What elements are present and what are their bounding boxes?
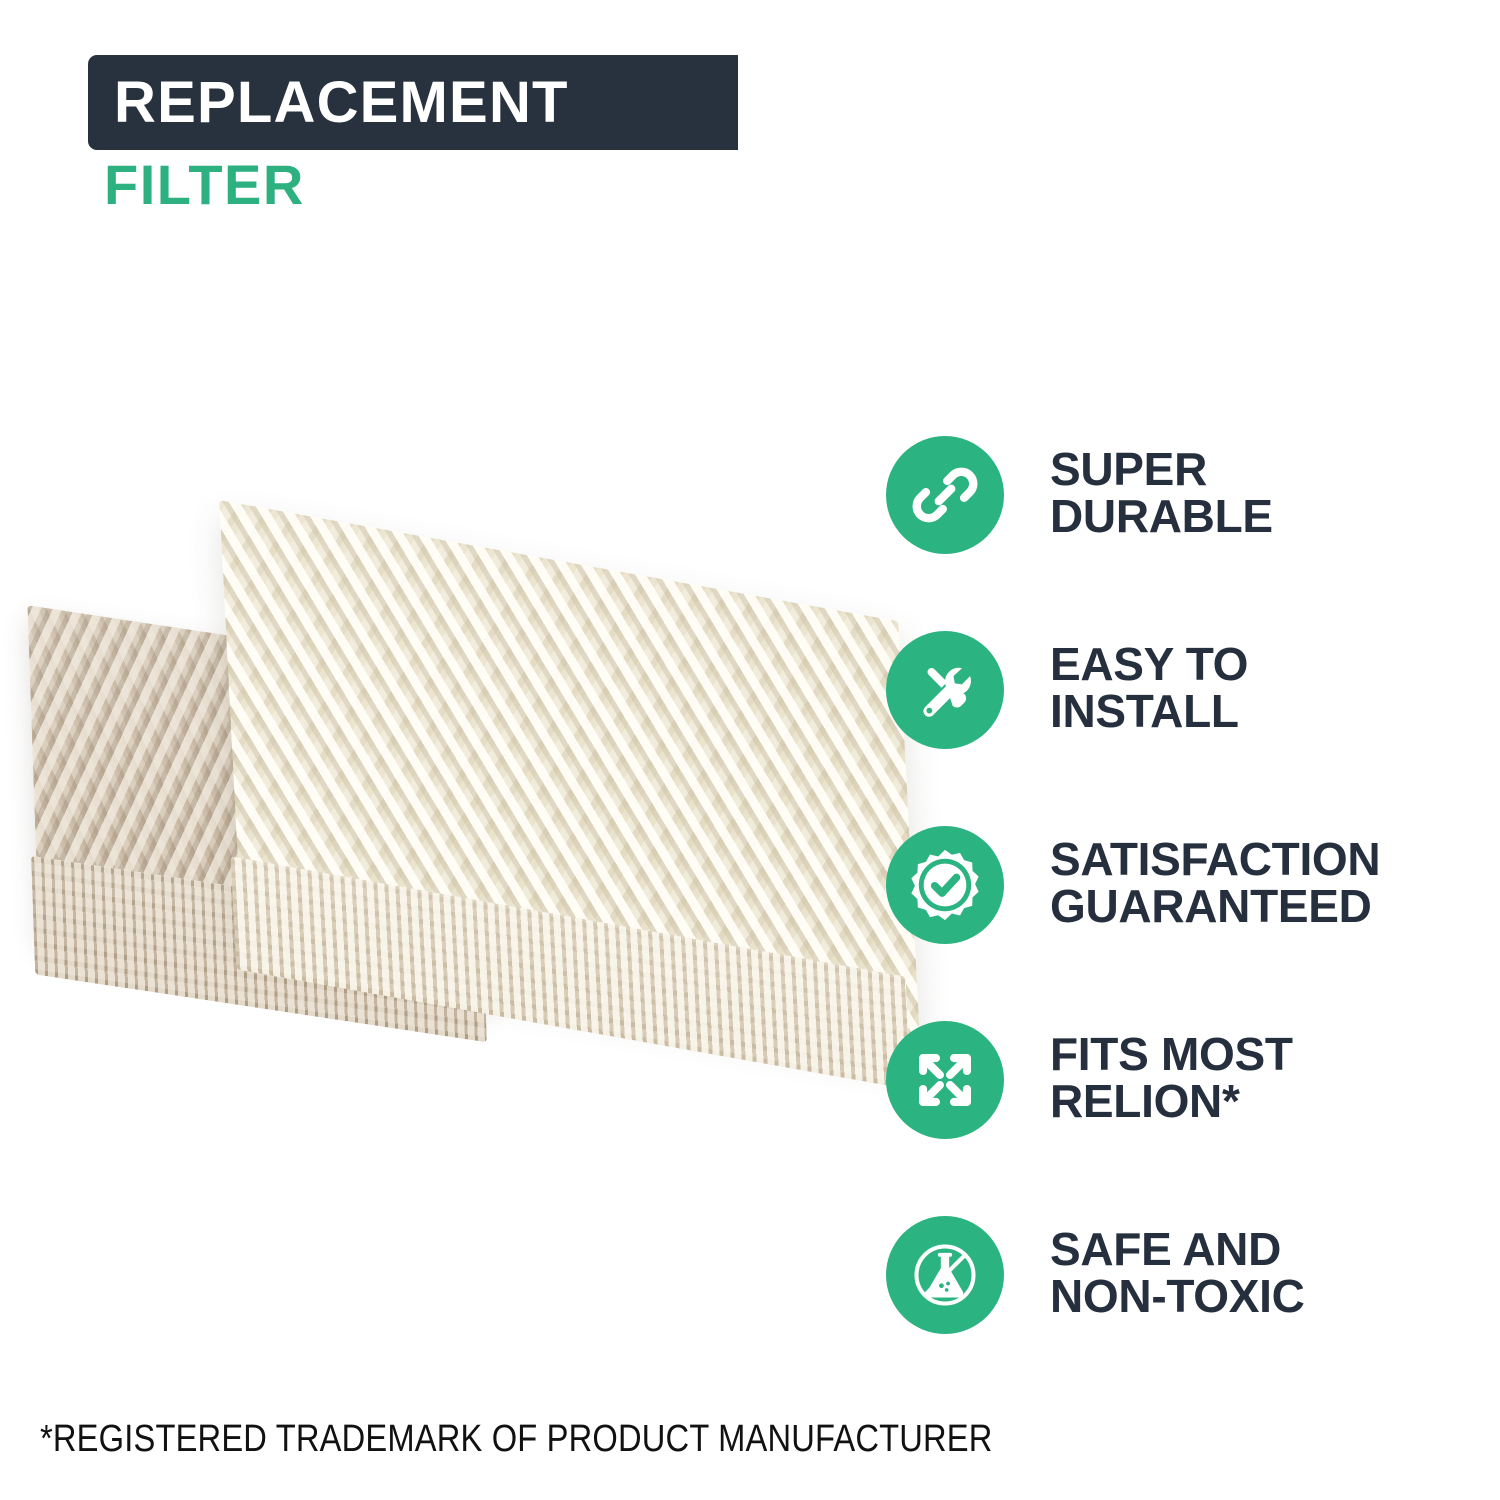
feature-label-easy-to-install: EASY TO INSTALL <box>1050 641 1470 736</box>
chain-link-icon <box>886 436 1004 554</box>
wrench-screwdriver-icon <box>886 631 1004 749</box>
feature-item-super-durable: SUPER DURABLE <box>886 436 1466 631</box>
feature-label-safe-and-non-toxic: SAFE AND NON-TOXIC <box>1050 1226 1470 1321</box>
expand-arrows-icon <box>886 1021 1004 1139</box>
page-subtitle: FILTER <box>104 157 305 213</box>
feature-label-line1: SUPER <box>1050 446 1470 493</box>
feature-label-satisfaction-guaranteed: SATISFACTION GUARANTEED <box>1050 836 1470 931</box>
feature-label-line1: SAFE AND <box>1050 1226 1470 1273</box>
feature-label-line1: EASY TO <box>1050 641 1470 688</box>
feature-item-fits-most-relion: FITS MOST RELION* <box>886 1021 1466 1216</box>
badge-check-icon <box>886 826 1004 944</box>
feature-label-fits-most-relion: FITS MOST RELION* <box>1050 1031 1470 1126</box>
feature-label-line2: GUARANTEED <box>1050 883 1470 930</box>
feature-label-line2: DURABLE <box>1050 493 1470 540</box>
feature-list: SUPER DURABLE EASY TO <box>886 436 1466 1411</box>
infographic-page: REPLACEMENT FILTER SUPER DURABL <box>0 0 1500 1500</box>
page-title: REPLACEMENT <box>114 55 569 150</box>
feature-label-line1: FITS MOST <box>1050 1031 1470 1078</box>
feature-label-super-durable: SUPER DURABLE <box>1050 446 1470 541</box>
header-banner: REPLACEMENT <box>88 55 738 150</box>
feature-label-line2: NON-TOXIC <box>1050 1273 1470 1320</box>
trademark-disclaimer: *REGISTERED TRADEMARK OF PRODUCT MANUFAC… <box>40 1418 993 1461</box>
feature-item-satisfaction-guaranteed: SATISFACTION GUARANTEED <box>886 826 1466 1021</box>
feature-label-line1: SATISFACTION <box>1050 836 1470 883</box>
feature-label-line2: RELION* <box>1050 1078 1470 1125</box>
feature-item-safe-and-non-toxic: SAFE AND NON-TOXIC <box>886 1216 1466 1411</box>
feature-item-easy-to-install: EASY TO INSTALL <box>886 631 1466 826</box>
product-image <box>25 545 905 1125</box>
no-toxic-flask-icon <box>886 1216 1004 1334</box>
feature-label-line2: INSTALL <box>1050 688 1470 735</box>
